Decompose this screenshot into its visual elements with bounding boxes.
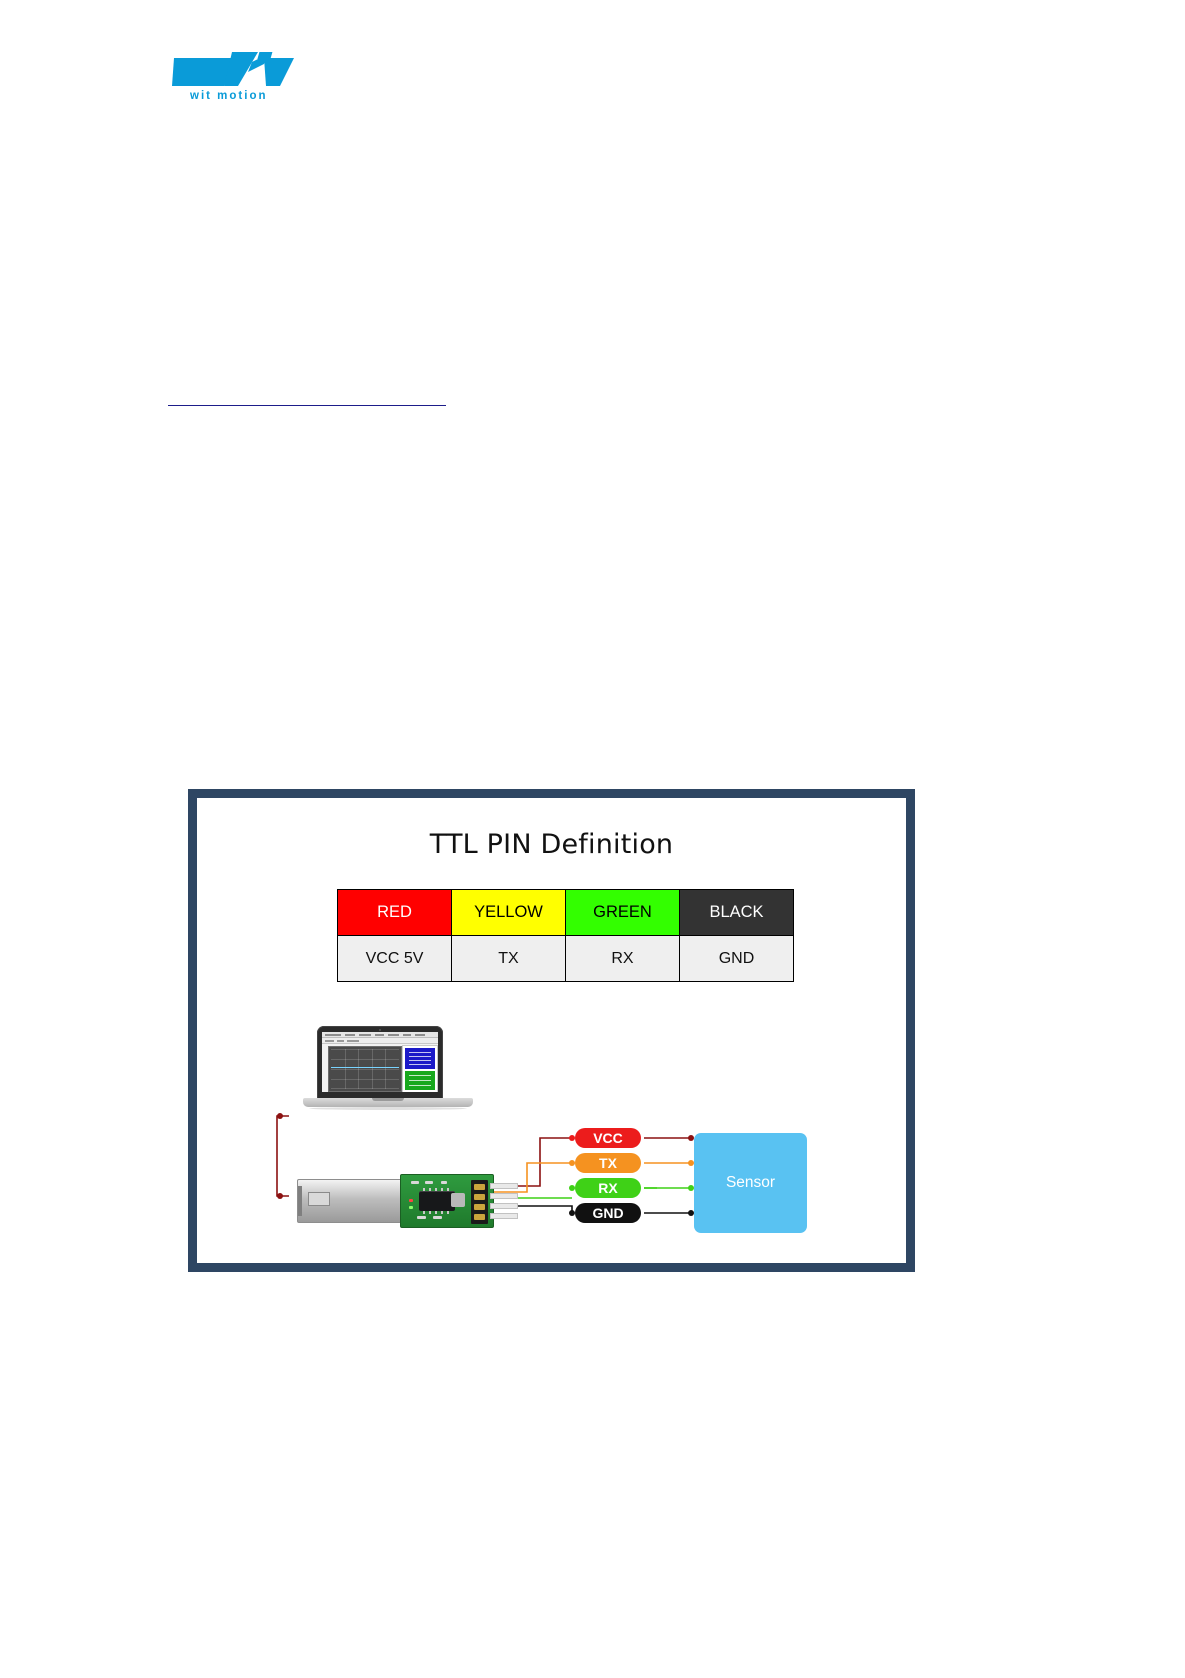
- witmotion-logo: wit motion: [168, 50, 358, 112]
- panel-block-blue: [405, 1048, 435, 1069]
- adapter-wire-3: [490, 1203, 518, 1209]
- adapter-pcb: [400, 1174, 494, 1228]
- pin-label-rx: RX: [575, 1178, 641, 1198]
- adapter-smd-2: [425, 1181, 433, 1184]
- usb-connector-shell: [297, 1179, 404, 1223]
- adapter-wire-4: [490, 1213, 518, 1219]
- pin-label-tx: TX: [575, 1153, 641, 1173]
- adapter-smd-3: [441, 1181, 447, 1184]
- sensor-box: Sensor: [694, 1133, 807, 1233]
- adapter-smd-1: [411, 1181, 419, 1184]
- document-link[interactable]: [168, 390, 446, 406]
- usb-ttl-adapter: [297, 1168, 509, 1232]
- adapter-wire-2: [490, 1193, 518, 1199]
- software-toolbar: [322, 1038, 438, 1044]
- laptop-notch: [372, 1098, 404, 1101]
- document-page: wit motion TTL PIN Definition RED YELLOW…: [0, 0, 1185, 1678]
- laptop-device: [303, 1026, 473, 1123]
- sensor-label: Sensor: [694, 1174, 807, 1192]
- logo-subtitle: wit motion: [190, 90, 268, 102]
- laptop-screen: [322, 1032, 438, 1092]
- software-window: [322, 1032, 438, 1092]
- panel-block-green: [405, 1071, 435, 1090]
- adapter-led-red: [409, 1199, 413, 1202]
- adapter-pin-header: [471, 1180, 488, 1224]
- pin-label-vcc: VCC: [575, 1128, 641, 1148]
- link-underline: [168, 405, 446, 406]
- software-chart: [328, 1046, 402, 1092]
- laptop-lid: [317, 1026, 443, 1100]
- laptop-shadow: [309, 1107, 467, 1110]
- adapter-chip: [419, 1191, 455, 1211]
- ttl-pin-definition-figure: TTL PIN Definition RED YELLOW GREEN BLAC…: [188, 789, 915, 1272]
- adapter-led-green: [409, 1206, 413, 1209]
- adapter-wire-1: [490, 1183, 518, 1189]
- wit-logo-icon: [168, 50, 358, 95]
- junction-dot-vcc-low: [277, 1193, 283, 1199]
- junction-dot-vcc-left: [277, 1113, 283, 1119]
- adapter-smd-4: [417, 1216, 426, 1219]
- pin-label-gnd: GND: [575, 1203, 641, 1223]
- adapter-crystal: [451, 1193, 465, 1207]
- wiring-diagram: VCC TX RX GND Sensor: [197, 798, 906, 1263]
- laptop-camera-icon: [379, 1029, 381, 1031]
- software-panel: [402, 1045, 438, 1092]
- adapter-smd-5: [433, 1216, 442, 1219]
